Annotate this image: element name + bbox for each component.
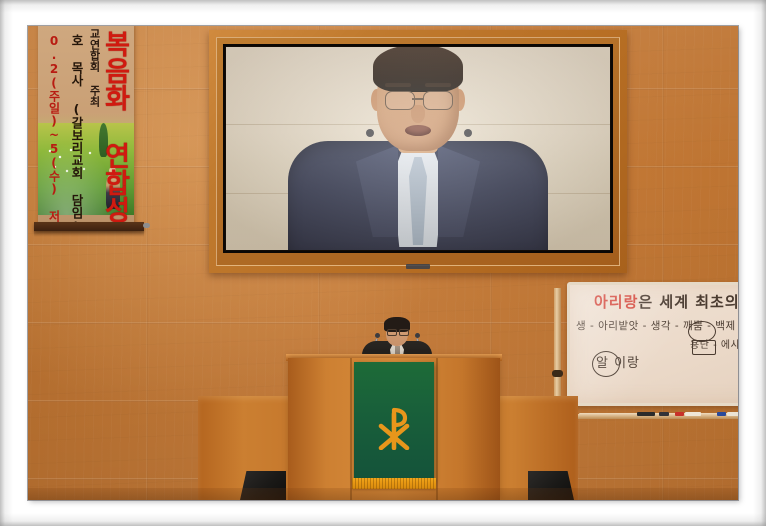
marker-blue[interactable] [717, 412, 726, 416]
whiteboard-text-line-4: 알 이랑 [596, 357, 640, 370]
projected-mic-capsule-right [464, 129, 472, 137]
speaker-eyeglass-left [387, 329, 397, 336]
marker-white-2[interactable] [727, 412, 738, 416]
whiteboard-stand-knob[interactable] [552, 370, 563, 377]
chi-rho-icon [375, 406, 413, 450]
banner-rod-shadow [34, 231, 144, 237]
projected-eyeglass-left [385, 91, 415, 110]
screen-inner-bezel [223, 44, 613, 253]
screen-projection-surface [226, 47, 610, 250]
photograph-canvas: 0.2(주일)~5(수) 저녁 7:30 호 목사 (갈보리교회 담임) 교연합… [28, 26, 738, 500]
marker-white[interactable] [685, 412, 701, 416]
projected-eyebrow-right [425, 83, 451, 87]
projected-eyeglass-bridge [412, 98, 424, 100]
marker-red[interactable] [675, 412, 684, 416]
projected-nose [411, 105, 425, 123]
whiteboard[interactable]: 아리랑은 세계 최초의 생 - 아리밭앗 - 생각 - 깨뿜 - 백제 - 무우… [567, 282, 738, 406]
screen-brand-label [406, 264, 430, 269]
podium-panel-edge [436, 358, 438, 500]
marker-black[interactable] [637, 412, 655, 416]
whiteboard-title-line: 아리랑은 세계 최초의 [594, 295, 738, 310]
photo-frame: 0.2(주일)~5(수) 저녁 7:30 호 목사 (갈보리교회 담임) 교연합… [0, 0, 766, 526]
whiteboard-text-line-2: 생 - 아리밭앗 - 생각 - 깨뿜 - 백제 - 무우 - 소 [576, 321, 738, 332]
podium-mic-capsule-right [415, 333, 420, 338]
podium-green-banner [354, 362, 434, 480]
banner-date-text: 0.2(주일)~5(수) 저녁 7:30 [48, 34, 60, 184]
wall-vertical-seam [146, 26, 148, 500]
banner-title-text: 복음화 연합성회 [101, 30, 128, 226]
projected-mouth [405, 125, 431, 136]
projected-speaker-figure [288, 47, 548, 250]
podium-mic-capsule-left [375, 333, 380, 338]
whiteboard-text-line-3: 용단 - 에사 - [690, 341, 738, 351]
marker-black-2[interactable] [659, 412, 669, 416]
projected-eyebrow-left [385, 83, 411, 87]
projection-screen [209, 30, 627, 273]
banner-weight-rod [34, 222, 144, 231]
banner-speaker-text: 호 목사 (갈보리교회 담임) [70, 34, 83, 184]
whiteboard-title-black: 은 세계 최초의 [638, 293, 738, 311]
stage-floor-shadow [28, 488, 738, 500]
projected-eyeglass-right [423, 91, 453, 110]
event-banner: 0.2(주일)~5(수) 저녁 7:30 호 목사 (갈보리교회 담임) 교연합… [38, 26, 134, 229]
speaker-eyeglass-right [399, 329, 409, 336]
whiteboard-title-red: 아리랑 [594, 293, 638, 311]
projected-mic-capsule-left [366, 129, 374, 137]
